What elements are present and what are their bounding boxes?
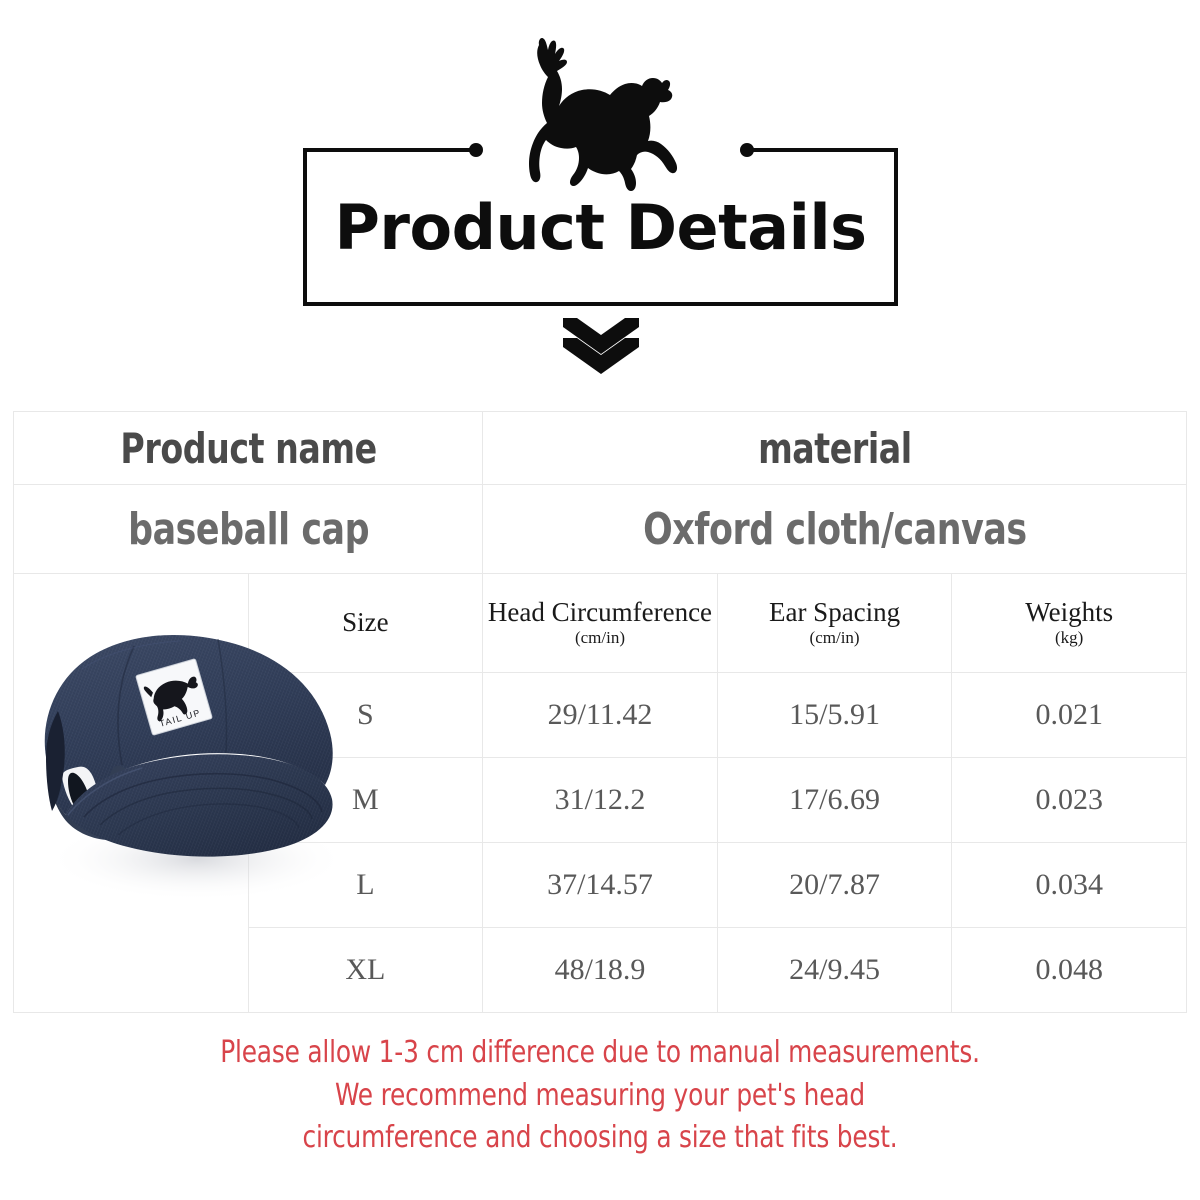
product-name-value: baseball cap bbox=[42, 485, 455, 574]
cell-size-xl: XL bbox=[248, 928, 483, 1013]
page-title: Product Details bbox=[303, 148, 898, 306]
col-header-ear-spacing-label: Ear Spacing bbox=[769, 597, 900, 627]
disclaimer-line-1: Please allow 1-3 cm difference due to ma… bbox=[48, 1032, 1152, 1075]
header-banner: Product Details bbox=[0, 0, 1200, 400]
col-header-ear-spacing: Ear Spacing (cm/in) bbox=[717, 574, 952, 673]
cell-weight-l: 0.034 bbox=[952, 843, 1187, 928]
cell-weight-xl: 0.048 bbox=[952, 928, 1187, 1013]
material-value: Oxford cloth/canvas bbox=[525, 485, 1144, 574]
product-spec-table: Product name material baseball cap Oxfor… bbox=[13, 411, 1187, 1013]
product-image: TAIL UP bbox=[14, 574, 249, 1013]
col-header-weights-label: Weights bbox=[1025, 597, 1113, 627]
product-name-header: Product name bbox=[42, 412, 455, 485]
denim-cap-illustration: TAIL UP bbox=[22, 609, 352, 899]
table-row-header: Product name material bbox=[14, 412, 1187, 485]
col-header-head-circumference: Head Circumference (cm/in) bbox=[483, 574, 718, 673]
measurement-disclaimer: Please allow 1-3 cm difference due to ma… bbox=[0, 1032, 1200, 1160]
cell-weight-m: 0.023 bbox=[952, 758, 1187, 843]
col-header-head-circumference-unit: (cm/in) bbox=[483, 628, 717, 648]
disclaimer-line-3: circumference and choosing a size that f… bbox=[48, 1117, 1152, 1160]
col-header-head-circumference-label: Head Circumference bbox=[488, 597, 712, 627]
table-row-size-header: TAIL UP Size Head Circumference (cm/in) … bbox=[14, 574, 1187, 673]
cell-head-xl: 48/18.9 bbox=[483, 928, 718, 1013]
col-header-ear-spacing-unit: (cm/in) bbox=[718, 628, 952, 648]
cell-ear-m: 17/6.69 bbox=[717, 758, 952, 843]
cell-head-m: 31/12.2 bbox=[483, 758, 718, 843]
col-header-weights-unit: (kg) bbox=[952, 628, 1186, 648]
material-header: material bbox=[525, 412, 1144, 485]
cell-head-s: 29/11.42 bbox=[483, 673, 718, 758]
cell-ear-xl: 24/9.45 bbox=[717, 928, 952, 1013]
col-header-weights: Weights (kg) bbox=[952, 574, 1187, 673]
disclaimer-line-2: We recommend measuring your pet's head bbox=[48, 1075, 1152, 1118]
cell-weight-s: 0.021 bbox=[952, 673, 1187, 758]
cell-head-l: 37/14.57 bbox=[483, 843, 718, 928]
double-chevron-down-icon bbox=[563, 318, 639, 374]
table-row-values: baseball cap Oxford cloth/canvas bbox=[14, 485, 1187, 574]
cell-ear-s: 15/5.91 bbox=[717, 673, 952, 758]
cell-ear-l: 20/7.87 bbox=[717, 843, 952, 928]
title-frame: Product Details bbox=[303, 148, 898, 306]
